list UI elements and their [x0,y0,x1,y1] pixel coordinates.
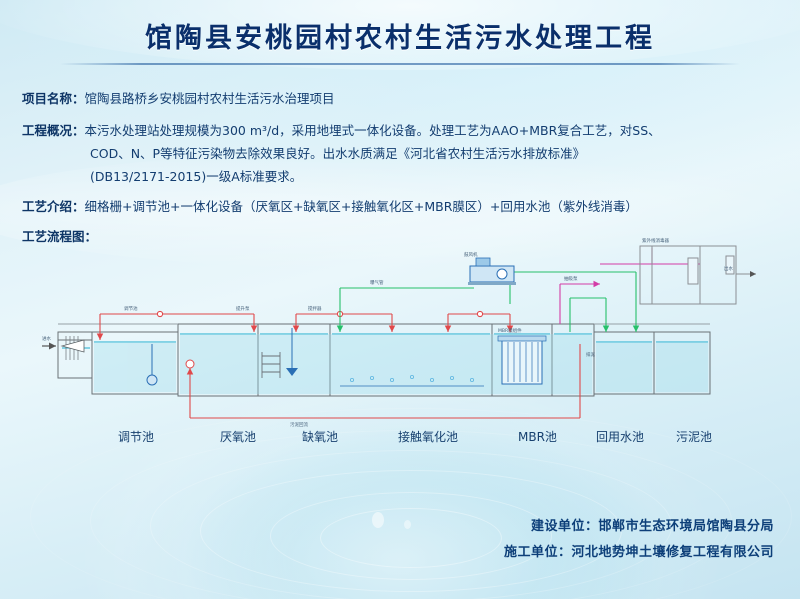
svg-text:提升泵: 提升泵 [236,305,250,312]
svg-text:鼓风机: 鼓风机 [464,251,478,258]
svg-text:进水: 进水 [42,335,51,342]
project-name-row: 项目名称： 馆陶县路桥乡安桃园村农村生活污水治理项目 [22,88,782,109]
process-value: 细格栅+调节池+一体化设备（厌氧区+缺氧区+接触氧化区+MBR膜区）+回用水池（… [85,196,638,217]
svg-text:抽吸泵: 抽吸泵 [564,275,578,282]
svg-text:MBR膜组件: MBR膜组件 [498,327,522,334]
caption-yanyangchi: 厌氧池 [220,428,256,445]
page-title: 馆陶县安桃园村农村生活污水处理工程 [0,16,800,55]
caption-mbr: MBR池 [518,428,557,445]
title-divider [60,63,740,65]
svg-text:搅拌器: 搅拌器 [308,305,322,312]
svg-text:紫外线消毒器: 紫外线消毒器 [642,237,669,244]
project-name-value: 馆陶县路桥乡安桃园村农村生活污水治理项目 [85,88,335,109]
overview-row-1: 工程概况： 本污水处理站处理规模为300 m³/d，采用地埋式一体化设备。处理工… [22,120,782,141]
water-ring [320,508,502,568]
water-ring [270,492,552,580]
process-flow-diagram: 调节池 提升泵 搅拌器 曝气管 鼓风机 MBR膜组件 抽吸泵 紫外线消毒器 出水… [40,228,760,453]
poster-canvas: 馆陶县安桃园村农村生活污水处理工程 项目名称： 馆陶县路桥乡安桃园村农村生活污水… [0,0,800,599]
water-droplet [372,512,384,528]
svg-text:污泥回流: 污泥回流 [290,421,308,428]
project-name-label: 项目名称： [22,88,85,109]
caption-huiyongshuichi: 回用水池 [596,428,644,445]
overview-row-2: COD、N、P等特征污染物去除效果良好。出水水质满足《河北省农村生活污水排放标准… [90,143,790,164]
overview-line-2: COD、N、P等特征污染物去除效果良好。出水水质满足《河北省农村生活污水排放标准… [90,143,585,164]
process-label: 工艺介绍： [22,196,85,217]
svg-text:出水: 出水 [724,265,733,272]
svg-text:曝气管: 曝气管 [370,279,384,286]
svg-text:调节池: 调节池 [124,305,138,312]
construction-unit: 建设单位：邯郸市生态环境局馆陶县分局 [531,515,774,534]
caption-tiaojiechi: 调节池 [118,428,154,445]
caption-wunichi: 污泥池 [676,428,712,445]
svg-text:排泥: 排泥 [586,351,595,358]
overview-line-1: 本污水处理站处理规模为300 m³/d，采用地埋式一体化设备。处理工艺为AAO+… [85,120,661,141]
caption-jiechuyanghuachi: 接触氧化池 [398,428,458,445]
contractor-unit: 施工单位：河北地势坤土壤修复工程有限公司 [504,541,774,560]
basin-caption-row: 调节池 厌氧池 缺氧池 接触氧化池 MBR池 回用水池 污泥池 [40,428,760,446]
overview-label: 工程概况： [22,120,85,141]
process-row: 工艺介绍： 细格栅+调节池+一体化设备（厌氧区+缺氧区+接触氧化区+MBR膜区）… [22,196,792,217]
water-droplet [404,520,411,529]
overview-line-3: (DB13/2171-2015)一级A标准要求。 [90,166,302,187]
caption-queyangchi: 缺氧池 [302,428,338,445]
overview-row-3: (DB13/2171-2015)一级A标准要求。 [90,166,790,187]
